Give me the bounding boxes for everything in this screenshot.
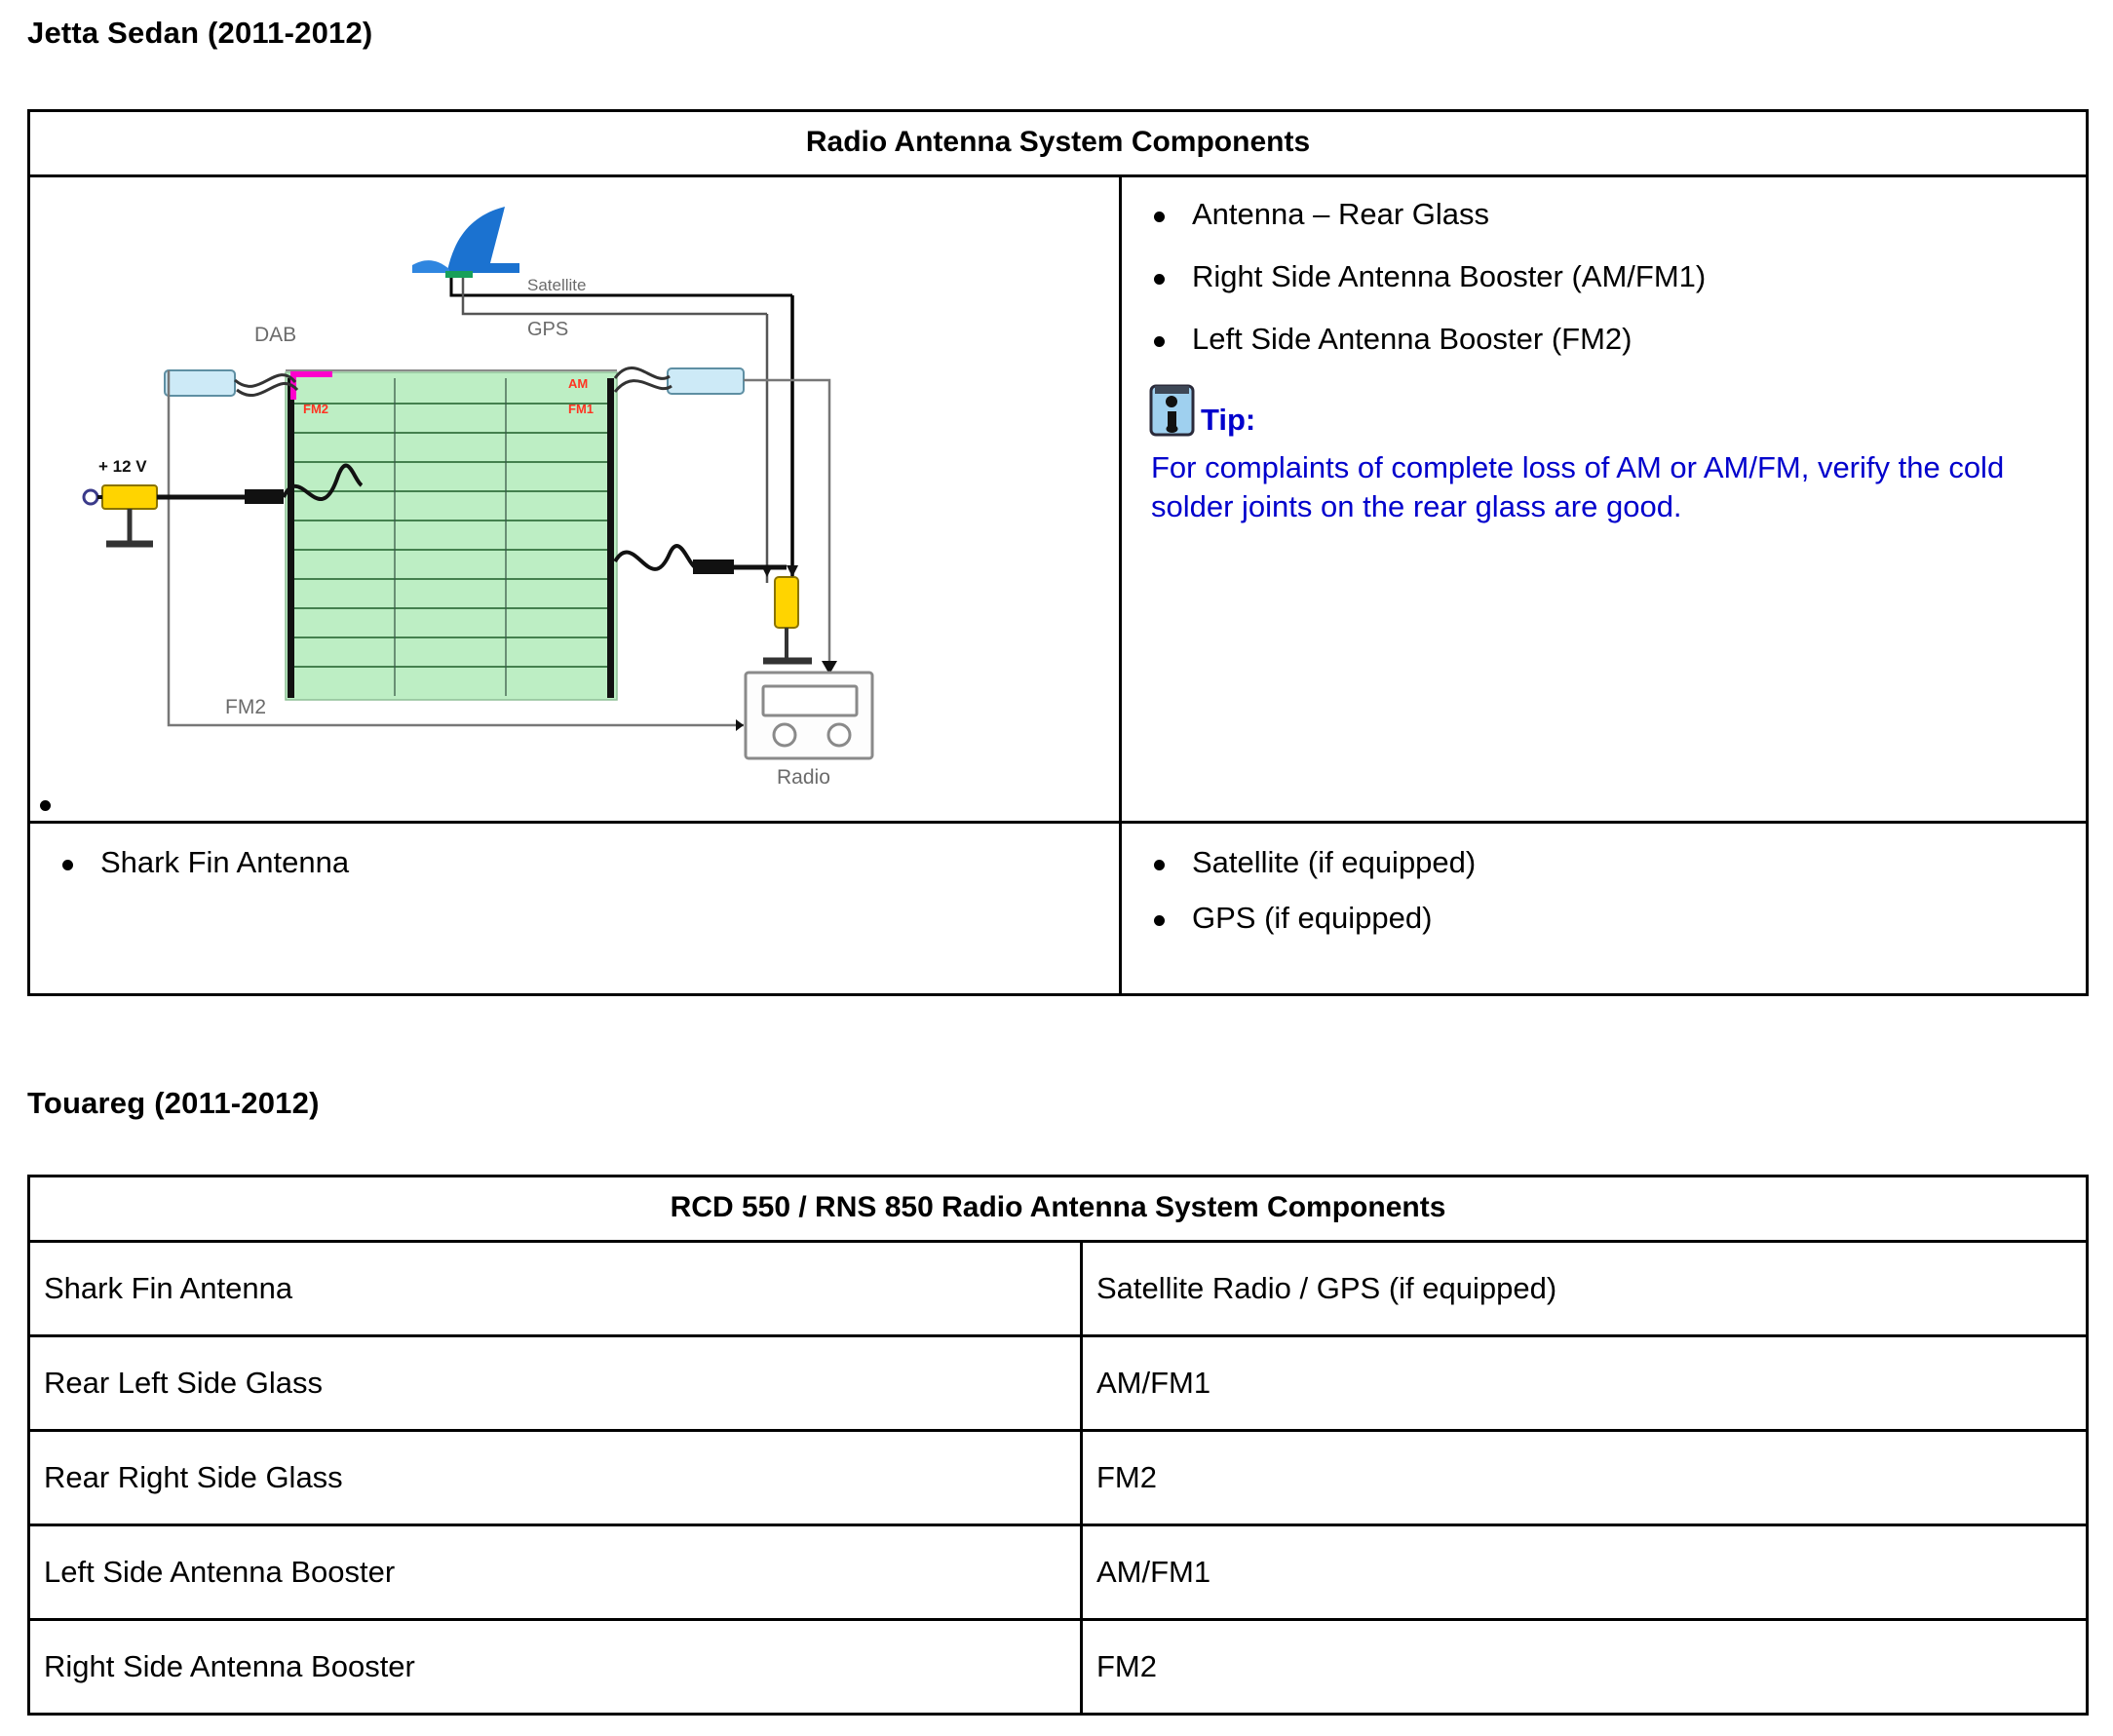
diagram-label-fm2-outer: FM2 — [225, 696, 266, 718]
list-item-label: Satellite (if equipped) — [1192, 845, 1476, 879]
table-cell-function: FM2 — [1082, 1620, 2088, 1715]
list-item-label: GPS (if equipped) — [1192, 901, 1432, 935]
list-item: GPS (if equipped) — [1192, 903, 2086, 933]
touareg-components-table: RCD 550 / RNS 850 Radio Antenna System C… — [27, 1175, 2089, 1716]
shark-fin-antenna-icon — [412, 207, 519, 278]
jetta-components-cell: Antenna – Rear Glass Right Side Antenna … — [1121, 176, 2088, 823]
list-item-label: Left Side Antenna Booster (FM2) — [1192, 322, 1632, 356]
table-cell-component: Rear Right Side Glass — [29, 1431, 1082, 1525]
table-cell-function: FM2 — [1082, 1431, 2088, 1525]
list-item: Satellite (if equipped) — [1192, 847, 2086, 877]
right-booster-cable — [615, 367, 672, 392]
stray-bullet-marker — [40, 800, 51, 811]
satellite-gps-cell: Satellite (if equipped) GPS (if equipped… — [1121, 823, 2088, 995]
bullet-dot-icon — [1154, 212, 1165, 222]
power-supply-group — [84, 485, 245, 544]
section-heading-touareg: Touareg (2011-2012) — [27, 1086, 320, 1121]
list-item-label: Antenna – Rear Glass — [1192, 197, 1489, 231]
table-row: Right Side Antenna Booster FM2 — [29, 1620, 2088, 1715]
radio-head-unit-icon — [746, 673, 872, 758]
right-glass-feed — [615, 546, 812, 661]
section-heading-jetta: Jetta Sedan (2011-2012) — [27, 16, 372, 51]
table-row: Rear Right Side Glass FM2 — [29, 1431, 2088, 1525]
tip-header: Tip: — [1149, 382, 2086, 437]
glass-label-fm2: FM2 — [303, 402, 328, 416]
table-cell-component: Left Side Antenna Booster — [29, 1525, 1082, 1620]
table-cell-component: Right Side Antenna Booster — [29, 1620, 1082, 1715]
shark-fin-cell: Shark Fin Antenna — [29, 823, 1121, 995]
radio-antenna-system-diagram: Satellite GPS DAB — [69, 187, 1063, 801]
bullet-dot-icon — [1154, 915, 1165, 926]
list-item: Shark Fin Antenna — [100, 847, 1119, 877]
list-item: Right Side Antenna Booster (AM/FM1) — [1192, 261, 2086, 291]
document-page: Jetta Sedan (2011-2012) Radio Antenna Sy… — [0, 0, 2113, 1736]
diagram-label-radio: Radio — [777, 766, 830, 789]
satellite-gps-wires — [451, 278, 792, 295]
table-row: Rear Left Side Glass AM/FM1 — [29, 1336, 2088, 1431]
right-antenna-booster-icon — [668, 368, 744, 394]
table-cell-function: Satellite Radio / GPS (if equipped) — [1082, 1242, 2088, 1336]
list-item-label: Shark Fin Antenna — [100, 845, 349, 879]
list-item: Antenna – Rear Glass — [1192, 199, 2086, 229]
tip-label: Tip: — [1201, 405, 1255, 437]
bullet-dot-icon — [62, 860, 73, 870]
table-row-title: RCD 550 / RNS 850 Radio Antenna System C… — [29, 1177, 2088, 1242]
table-cell-component: Shark Fin Antenna — [29, 1242, 1082, 1336]
satellite-gps-list: Satellite (if equipped) GPS (if equipped… — [1122, 847, 2086, 933]
bullet-dot-icon — [1154, 336, 1165, 347]
diagram-label-satellite: Satellite — [527, 276, 586, 294]
antenna-diagram-cell: Satellite GPS DAB — [29, 176, 1121, 823]
jetta-component-list: Antenna – Rear Glass Right Side Antenna … — [1122, 199, 2086, 354]
jetta-components-table: Radio Antenna System Components — [27, 109, 2089, 996]
shark-fin-list: Shark Fin Antenna — [30, 847, 1119, 877]
table-row-bottom: Shark Fin Antenna Satellite (if equipped… — [29, 823, 2088, 995]
list-item: Left Side Antenna Booster (FM2) — [1192, 324, 2086, 354]
bullet-dot-icon — [1154, 274, 1165, 285]
rear-glass-graphic — [286, 370, 617, 700]
table-cell-component: Rear Left Side Glass — [29, 1336, 1082, 1431]
table-row-main: Satellite GPS DAB — [29, 176, 2088, 823]
info-icon — [1149, 384, 1195, 437]
tip-text: For complaints of complete loss of AM or… — [1149, 448, 2028, 525]
table-cell-function: AM/FM1 — [1082, 1336, 2088, 1431]
glass-label-am: AM — [568, 376, 588, 391]
bullet-dot-icon — [1154, 860, 1165, 870]
table-row: Shark Fin Antenna Satellite Radio / GPS … — [29, 1242, 2088, 1336]
diagram-label-gps: GPS — [527, 319, 568, 340]
diagram-label-voltage: + 12 V — [98, 457, 147, 476]
table-row-title: Radio Antenna System Components — [29, 111, 2088, 176]
table-row: Left Side Antenna Booster AM/FM1 — [29, 1525, 2088, 1620]
jetta-table-title: Radio Antenna System Components — [29, 111, 2088, 176]
touareg-table-title: RCD 550 / RNS 850 Radio Antenna System C… — [29, 1177, 2088, 1242]
tip-block: Tip: For complaints of complete loss of … — [1122, 382, 2086, 525]
right-booster-feed-wire — [744, 380, 829, 589]
diagram-label-dab: DAB — [254, 324, 296, 346]
table-cell-function: AM/FM1 — [1082, 1525, 2088, 1620]
glass-label-fm1: FM1 — [568, 402, 594, 416]
left-antenna-booster-icon — [165, 370, 235, 396]
list-item-label: Right Side Antenna Booster (AM/FM1) — [1192, 259, 1706, 293]
